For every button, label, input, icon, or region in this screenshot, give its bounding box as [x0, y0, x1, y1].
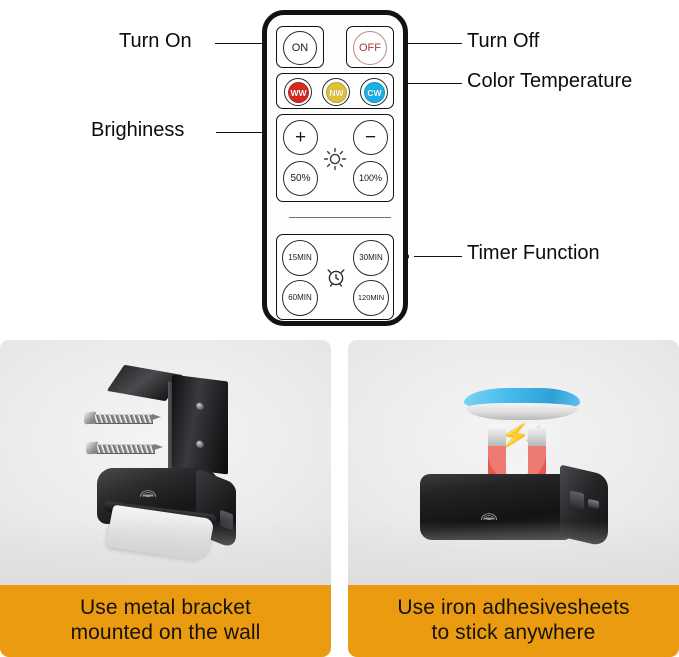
bracket-face-plate	[172, 375, 228, 475]
iron-sheet-bottom-face	[466, 403, 578, 420]
timer-panel: 15MIN 30MIN 60MIN 120MIN	[276, 234, 394, 320]
motion-sensor-icon	[137, 483, 159, 497]
lamp-power-switch	[220, 510, 233, 531]
sun-icon	[322, 146, 348, 172]
caption-iron-adhesive-sheet: Use iron adhesivesheets to stick anywher…	[348, 585, 679, 657]
card-metal-bracket: Use metal bracket mounted on the wall	[0, 340, 331, 657]
bracket-screw-hole	[196, 402, 204, 411]
wall-light-fixture	[420, 470, 610, 548]
brightness-panel: + − 50% 100%	[276, 114, 394, 202]
caption-line-2: mounted on the wall	[71, 621, 261, 644]
caption-line-1: Use metal bracket	[80, 596, 251, 619]
motion-sensor-icon	[478, 506, 500, 520]
iron-adhesive-sheet	[464, 388, 580, 420]
brightness-decrease-button[interactable]: −	[353, 120, 388, 155]
callout-timer-function: Timer Function	[467, 242, 600, 265]
callout-turn-off: Turn Off	[467, 30, 539, 53]
feature-cards: Use metal bracket mounted on the wall ⚡ …	[0, 340, 679, 657]
card-iron-adhesive-sheet: ⚡ ⚡ Use iron adhesivesheets to stick any…	[348, 340, 679, 657]
color-temperature-panel: WW NW CW	[276, 73, 394, 109]
lamp-power-switch	[570, 491, 584, 510]
remote-control-body: ON OFF WW NW CW + − 50% 100%	[262, 10, 408, 326]
caption-metal-bracket: Use metal bracket mounted on the wall	[0, 585, 331, 657]
callout-color-temperature: Color Temperature	[467, 70, 632, 93]
off-button-panel[interactable]: OFF	[346, 26, 394, 68]
bracket-screw-hole	[196, 440, 204, 449]
cw-button-ring[interactable]: CW	[360, 78, 388, 106]
on-button-panel[interactable]: ON	[276, 26, 324, 68]
brightness-100-button[interactable]: 100%	[353, 161, 388, 196]
callout-brightness: Brighiness	[91, 119, 184, 142]
leader-line-color-temperature	[400, 83, 462, 84]
power-off-button[interactable]: OFF	[353, 31, 387, 65]
brightness-increase-button[interactable]: +	[283, 120, 318, 155]
caption-line-2: to stick anywhere	[432, 621, 596, 644]
timer-60min-button[interactable]: 60MIN	[282, 280, 318, 316]
cw-button[interactable]: CW	[364, 82, 385, 103]
caption-line-1: Use iron adhesivesheets	[397, 596, 629, 619]
ww-button-ring[interactable]: WW	[284, 78, 312, 106]
photo-metal-bracket	[0, 340, 331, 585]
leader-line-timer-function	[414, 256, 462, 257]
magnet-pole-right	[528, 428, 546, 446]
power-on-button[interactable]: ON	[283, 31, 317, 65]
photo-iron-adhesive-sheet: ⚡ ⚡	[348, 340, 679, 585]
brightness-50-button[interactable]: 50%	[283, 161, 318, 196]
lamp-housing-side	[196, 468, 236, 550]
nw-button[interactable]: NW	[326, 82, 347, 103]
alarm-clock-icon	[324, 265, 348, 289]
magnet-pole-left	[488, 428, 506, 446]
timer-30min-button[interactable]: 30MIN	[353, 240, 389, 276]
ww-button[interactable]: WW	[288, 82, 309, 103]
callout-turn-on: Turn On	[119, 30, 192, 53]
nw-button-ring[interactable]: NW	[322, 78, 350, 106]
lamp-housing-side	[560, 464, 608, 547]
timer-15min-button[interactable]: 15MIN	[282, 240, 318, 276]
timer-120min-button[interactable]: 120MIN	[353, 280, 389, 316]
wall-light-fixture	[92, 468, 240, 563]
section-divider	[289, 217, 391, 218]
remote-diagram: Turn On Brighiness Turn Off Color Temper…	[0, 0, 679, 340]
